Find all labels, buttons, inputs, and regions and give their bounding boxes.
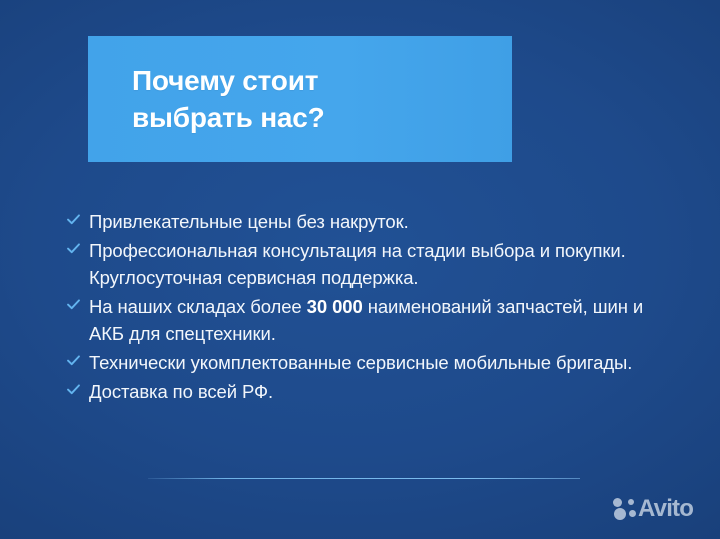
benefits-list: Привлекательные цены без накруток. Профе… <box>66 208 676 407</box>
page-title: Почему стоит выбрать нас? <box>132 62 512 136</box>
presentation-slide: Почему стоит выбрать нас? Привлекательны… <box>0 0 720 539</box>
list-item: Технически укомплектованные сервисные мо… <box>66 349 676 376</box>
list-item: Профессиональная консультация на стадии … <box>66 237 676 291</box>
check-icon <box>66 241 81 256</box>
avito-dots-icon <box>613 497 637 520</box>
check-icon <box>66 353 81 368</box>
list-item: На наших складах более 30 000 наименован… <box>66 293 676 347</box>
avito-watermark: Avito <box>613 497 693 520</box>
check-icon <box>66 212 81 227</box>
list-item: Привлекательные цены без накруток. <box>66 208 676 235</box>
check-icon <box>66 297 81 312</box>
check-icon <box>66 382 81 397</box>
list-item-label: Привлекательные цены без накруток. <box>89 211 409 232</box>
avito-wordmark: Avito <box>638 497 693 520</box>
list-item-label: Технически укомплектованные сервисные мо… <box>89 352 632 373</box>
list-item-label: На наших складах более 30 000 наименован… <box>89 296 643 344</box>
list-item: Доставка по всей РФ. <box>66 378 676 405</box>
divider <box>148 478 580 479</box>
list-item-label: Доставка по всей РФ. <box>89 381 273 402</box>
list-item-label: Профессиональная консультация на стадии … <box>89 240 626 288</box>
title-banner: Почему стоит выбрать нас? <box>88 36 512 162</box>
